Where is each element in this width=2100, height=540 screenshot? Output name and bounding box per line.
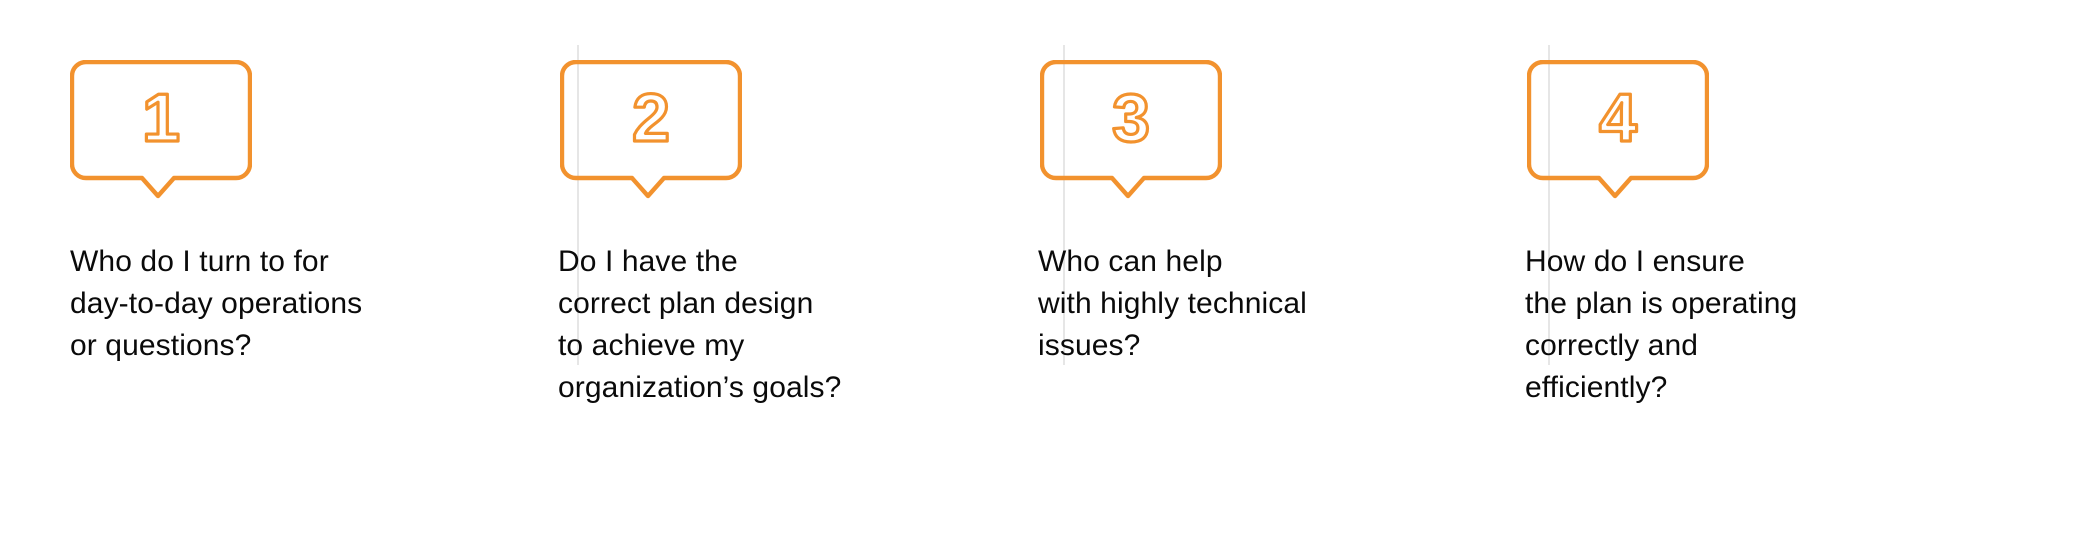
speech-bubble-icon-2: 2 bbox=[560, 60, 742, 208]
card-list: 1 Who do I turn to for day-to-day operat… bbox=[0, 0, 2100, 540]
card-question-2: Do I have the correct plan design to ach… bbox=[558, 241, 1003, 409]
card-question-4: How do I ensure the plan is operating co… bbox=[1525, 241, 2100, 409]
speech-bubble-icon-3: 3 bbox=[1040, 60, 1222, 208]
faq-steps-board: 1 Who do I turn to for day-to-day operat… bbox=[0, 0, 2100, 540]
speech-bubble-icon-4: 4 bbox=[1527, 60, 1709, 208]
question-card-1: 1 Who do I turn to for day-to-day operat… bbox=[0, 0, 517, 540]
card-number-3: 3 bbox=[1112, 80, 1150, 156]
card-number-4: 4 bbox=[1599, 80, 1637, 156]
question-card-4: 4 How do I ensure the plan is operating … bbox=[1488, 0, 2100, 540]
question-card-2: 2 Do I have the correct plan design to a… bbox=[517, 0, 1003, 540]
card-question-1: Who do I turn to for day-to-day operatio… bbox=[70, 241, 517, 367]
question-card-3: 3 Who can help with highly technical iss… bbox=[1003, 0, 1488, 540]
speech-bubble-icon-1: 1 bbox=[70, 60, 252, 208]
card-question-3: Who can help with highly technical issue… bbox=[1038, 241, 1488, 367]
card-number-2: 2 bbox=[632, 80, 670, 156]
card-number-1: 1 bbox=[142, 80, 180, 156]
